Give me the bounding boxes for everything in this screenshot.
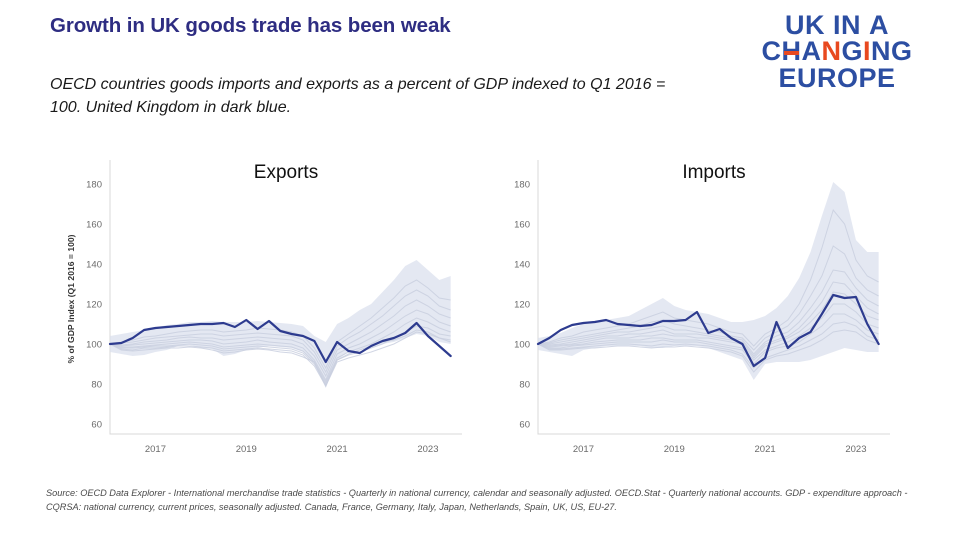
logo-text-h-accent: H	[781, 38, 801, 64]
y-axis-label: % of GDP Index (Q1 2016 = 100)	[66, 234, 76, 363]
logo-line-2: CHANGING	[727, 38, 947, 64]
x-tick-label: 2019	[664, 444, 685, 455]
slide: Growth in UK goods trade has been weak O…	[0, 0, 959, 535]
range-band	[110, 260, 451, 388]
y-tick-label: 140	[514, 259, 530, 270]
logo-line-3: EUROPE	[727, 65, 947, 91]
chart-svg-imports: 60801001201401601802017201920212023Impor…	[490, 146, 898, 476]
y-tick-label: 100	[86, 339, 102, 350]
logo-text-n-accent: N	[821, 36, 841, 66]
y-tick-label: 80	[91, 379, 102, 390]
subtitle: OECD countries goods imports and exports…	[50, 73, 670, 119]
page-title: Growth in UK goods trade has been weak	[50, 14, 451, 38]
y-tick-label: 120	[86, 299, 102, 310]
chart-svg-exports: 60801001201401601802017201920212023% of …	[62, 146, 470, 476]
y-tick-label: 80	[519, 379, 530, 390]
chart-panel-exports: 60801001201401601802017201920212023% of …	[62, 146, 470, 476]
logo: UK IN A CHANGING EUROPE	[727, 12, 947, 91]
logo-text-a2: A	[801, 36, 821, 66]
logo-text-c: C	[761, 36, 781, 66]
chart-panel-imports: 60801001201401601802017201920212023Impor…	[490, 146, 898, 476]
y-tick-label: 60	[91, 419, 102, 430]
x-tick-label: 2021	[755, 444, 776, 455]
logo-text-ng: NG	[871, 36, 913, 66]
x-tick-label: 2023	[417, 444, 438, 455]
y-tick-label: 180	[86, 179, 102, 190]
x-tick-label: 2017	[145, 444, 166, 455]
logo-line-1: UK IN A	[727, 12, 947, 38]
y-tick-label: 160	[86, 219, 102, 230]
y-tick-label: 120	[514, 299, 530, 310]
logo-text-g: G	[841, 36, 863, 66]
logo-text-i-accent: I	[863, 36, 871, 66]
chart-title-exports: Exports	[254, 162, 318, 183]
x-tick-label: 2017	[573, 444, 594, 455]
y-tick-label: 140	[86, 259, 102, 270]
source-note: Source: OECD Data Explorer - Internation…	[46, 486, 916, 515]
y-tick-label: 180	[514, 179, 530, 190]
x-tick-label: 2019	[236, 444, 257, 455]
y-tick-label: 100	[514, 339, 530, 350]
x-tick-label: 2021	[327, 444, 348, 455]
chart-title-imports: Imports	[682, 162, 745, 183]
y-tick-label: 60	[519, 419, 530, 430]
x-tick-label: 2023	[845, 444, 866, 455]
y-tick-label: 160	[514, 219, 530, 230]
